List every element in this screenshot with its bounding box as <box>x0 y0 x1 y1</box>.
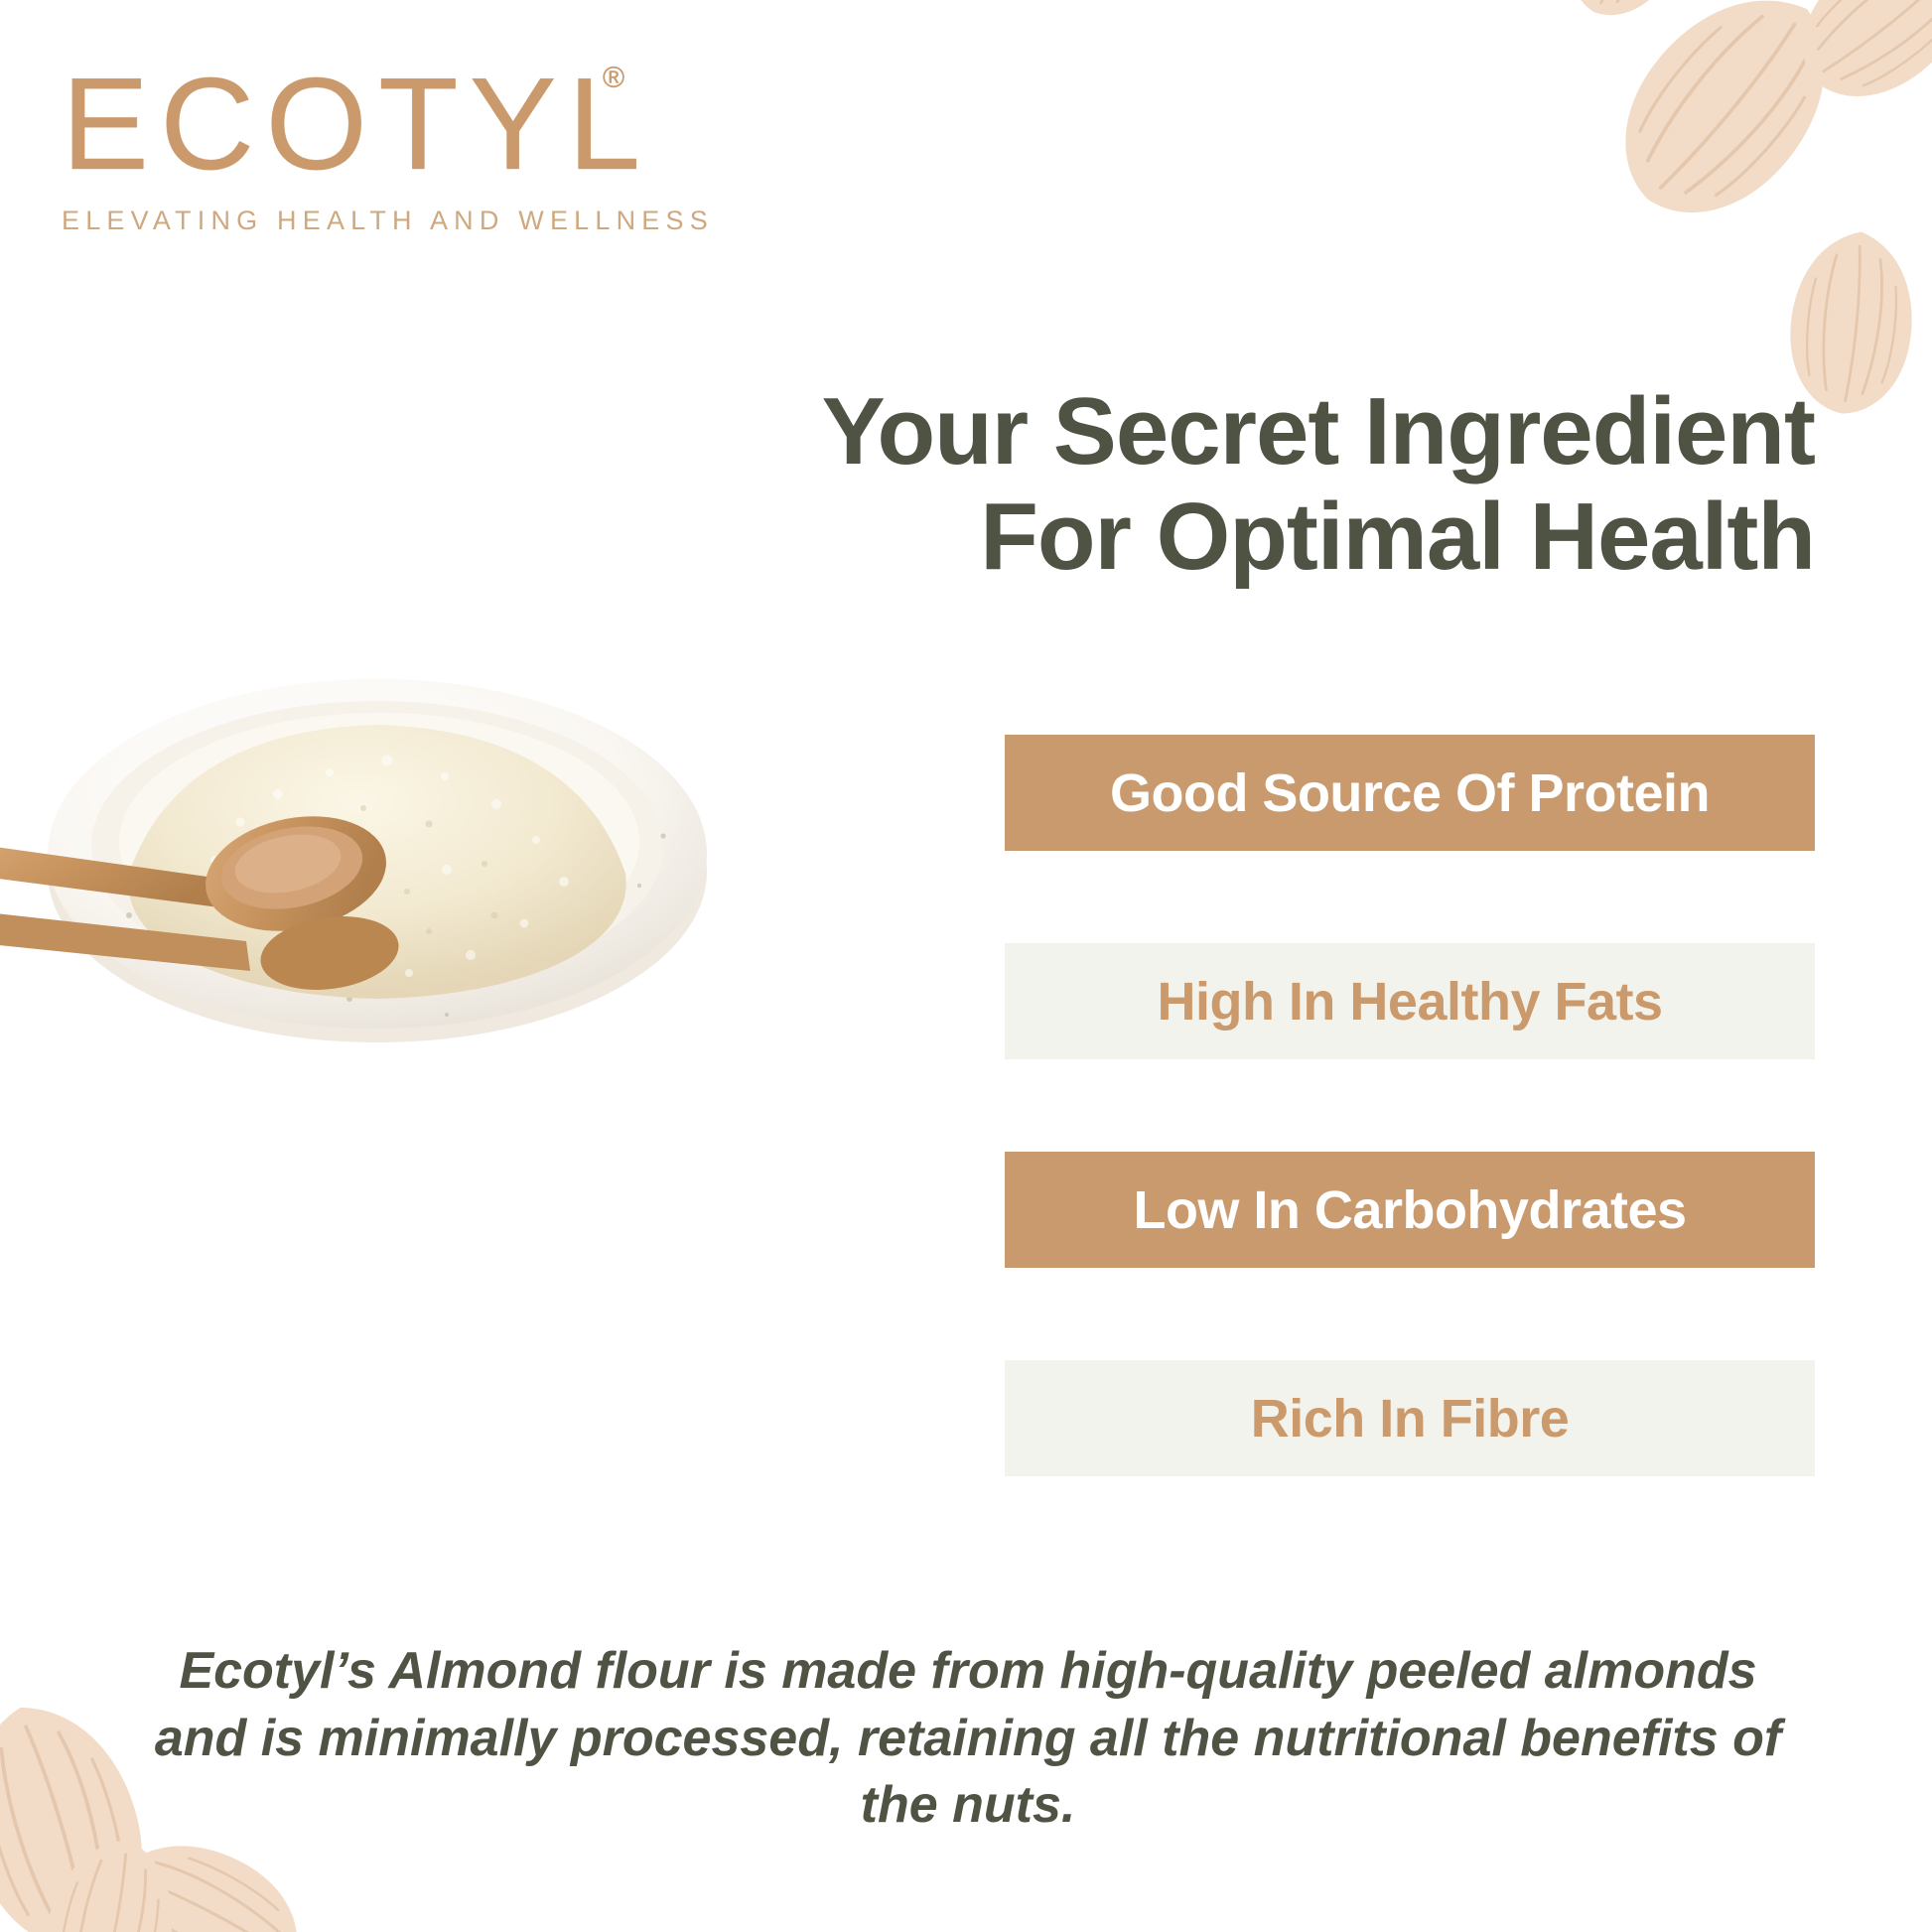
benefit-label: Low In Carbohydrates <box>1133 1179 1686 1241</box>
benefit-bar-protein[interactable]: Good Source Of Protein <box>1005 735 1815 851</box>
brand-wordmark: ECOTYL ® <box>62 58 697 192</box>
benefit-bar-healthy-fats[interactable]: High In Healthy Fats <box>1005 943 1815 1059</box>
almond-icon <box>1547 0 1709 35</box>
brand-wordmark-text: ECOTYL <box>62 51 651 197</box>
almond-icon <box>1585 0 1869 252</box>
benefits-list: Good Source Of Protein High In Healthy F… <box>1005 735 1815 1476</box>
product-photo <box>0 625 764 1042</box>
benefit-label: Good Source Of Protein <box>1110 762 1710 824</box>
benefit-label: High In Healthy Fats <box>1157 971 1662 1033</box>
benefit-bar-carbohydrates[interactable]: Low In Carbohydrates <box>1005 1152 1815 1268</box>
benefit-bar-fibre[interactable]: Rich In Fibre <box>1005 1360 1815 1476</box>
registered-trademark-icon: ® <box>603 64 624 94</box>
page-title: Your Secret Ingredient For Optimal Healt… <box>762 379 1815 589</box>
almond-icon <box>1774 0 1932 127</box>
brand-logo: ECOTYL ® ELEVATING HEALTH AND WELLNESS <box>62 58 697 236</box>
poster-canvas: ECOTYL ® ELEVATING HEALTH AND WELLNESS Y… <box>0 0 1932 1932</box>
brand-tagline: ELEVATING HEALTH AND WELLNESS <box>62 206 697 236</box>
product-description: Ecotyl’s Almond flour is made from high-… <box>129 1638 1807 1840</box>
almond-icon <box>29 1827 190 1932</box>
benefit-label: Rich In Fibre <box>1251 1388 1570 1449</box>
